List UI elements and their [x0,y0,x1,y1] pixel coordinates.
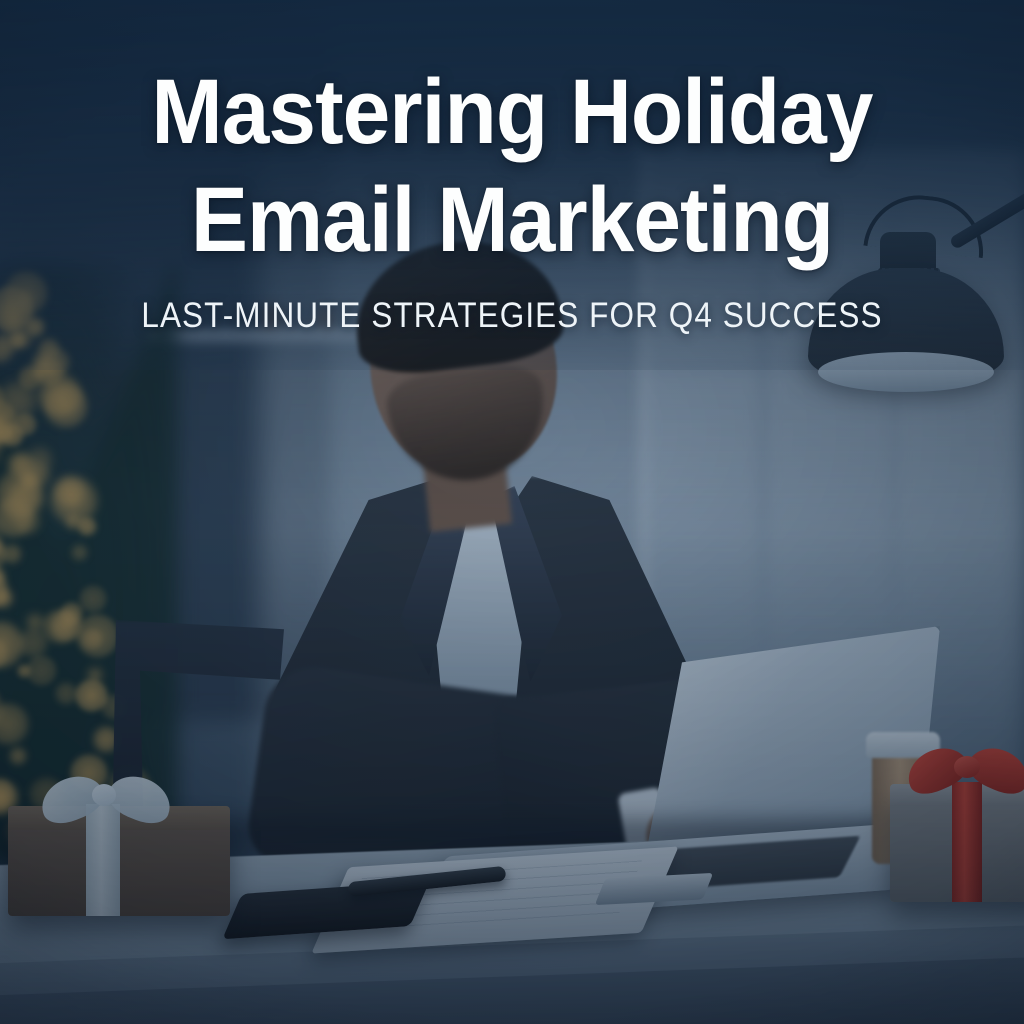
poster-canvas: Mastering Holiday Email Marketing LAST-M… [0,0,1024,1024]
headline-line-1: Mastering Holiday [73,58,951,166]
page-title: Mastering Holiday Email Marketing [0,58,1024,274]
headline-line-2: Email Marketing [73,166,951,274]
subtitle: LAST-MINUTE STRATEGIES FOR Q4 SUCCESS [51,296,973,336]
